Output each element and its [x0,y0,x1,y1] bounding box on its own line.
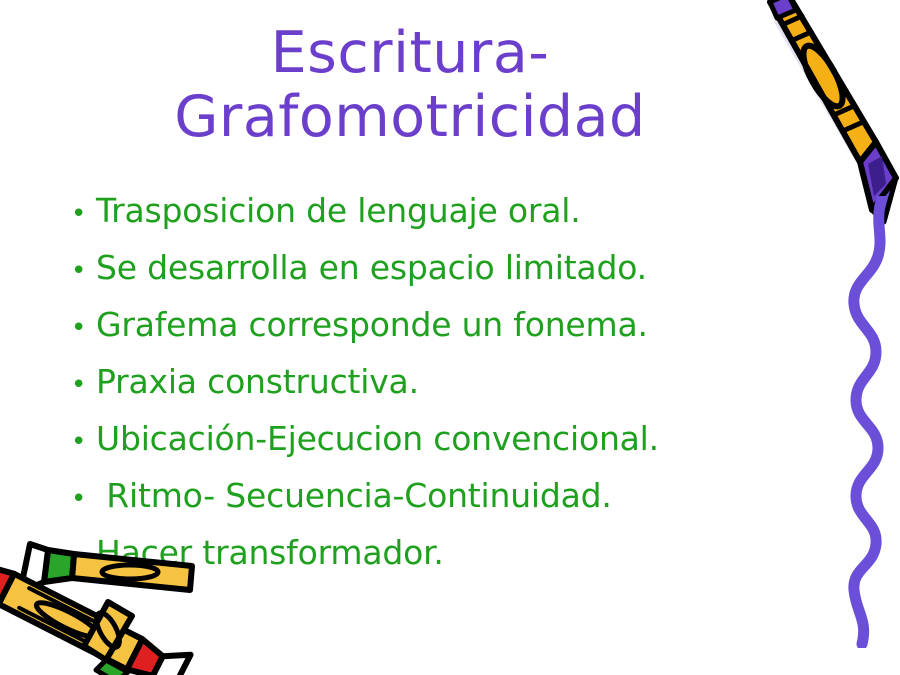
list-item: • Trasposicion de lenguaje oral. [62,182,782,239]
list-item: • Se desarrolla en espacio limitado. [62,239,782,296]
list-item: • Ubicación-Ejecucion convencional. [62,410,782,467]
list-item: • Grafema corresponde un fonema. [62,296,782,353]
bullet-point-icon: • [62,243,96,300]
bullet-point-icon: • [62,471,96,528]
list-item-label: Trasposicion de lenguaje oral. [96,182,782,239]
purple-wavy-line-icon [826,196,900,648]
bullet-point-icon: • [62,186,96,243]
list-item-label: Ritmo- Secuencia-Continuidad. [96,467,782,524]
list-item-label: Praxia constructiva. [96,353,782,410]
list-item-label: Hacer transformador. [96,524,782,581]
bullet-list: • Trasposicion de lenguaje oral. • Se de… [62,182,782,581]
list-item: • Ritmo- Secuencia-Continuidad. [62,467,782,524]
bullet-point-icon: • [62,414,96,471]
slide-title: Escritura- Grafomotricidad [0,22,820,150]
presentation-slide: Escritura- Grafomotricidad • Trasposicio… [0,0,900,675]
list-item-label: Ubicación-Ejecucion convencional. [96,410,782,467]
list-item: • Praxia constructiva. [62,353,782,410]
bullet-point-icon: • [62,357,96,414]
list-item: • Hacer transformador. [62,524,782,581]
list-item-label: Se desarrolla en espacio limitado. [96,239,782,296]
list-item-label: Grafema corresponde un fonema. [96,296,782,353]
bullet-point-icon: • [62,300,96,357]
